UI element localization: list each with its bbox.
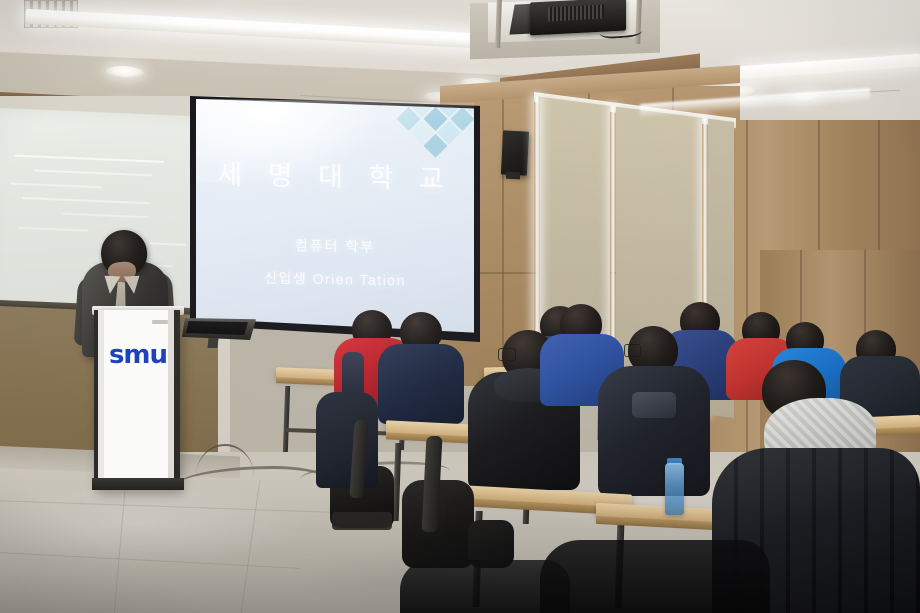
student-jacket bbox=[316, 392, 378, 488]
eyeglasses bbox=[624, 344, 641, 357]
projection-screen: 세 명 대 학 교 컴퓨터 학부 신입생 Orien Tation bbox=[196, 99, 474, 335]
student-jacket bbox=[598, 366, 710, 496]
podium-monitor-screen bbox=[186, 321, 248, 335]
student-jacket bbox=[378, 344, 464, 424]
foreground-coats bbox=[540, 540, 770, 613]
slide-title: 세 명 대 학 교 bbox=[217, 153, 452, 197]
podium-monitor-stand bbox=[207, 338, 218, 348]
slide-content: 세 명 대 학 교 컴퓨터 학부 신입생 Orien Tation bbox=[196, 99, 474, 335]
podium-base bbox=[92, 478, 184, 490]
bag-base bbox=[332, 512, 392, 530]
slide-subtitle-department: 컴퓨터 학부 bbox=[295, 235, 375, 257]
eyeglasses bbox=[498, 348, 516, 361]
foreground-coats bbox=[400, 560, 570, 613]
jacket-shoulder-panel bbox=[632, 392, 676, 418]
slide-subtitle-orientation: 신입생 Orien Tation bbox=[264, 268, 406, 291]
projector-vent-grille bbox=[548, 5, 604, 22]
speaker-bracket bbox=[506, 172, 520, 180]
lectern-podium bbox=[94, 310, 180, 490]
podium-badge bbox=[152, 320, 168, 324]
desk-leg bbox=[283, 386, 290, 452]
lecture-hall-photo: 세 명 대 학 교 컴퓨터 학부 신입생 Orien Tation smu bbox=[0, 0, 920, 613]
water-bottle-on-desk[interactable] bbox=[665, 463, 684, 515]
wall-mounted-speaker bbox=[501, 130, 529, 175]
podium-smu-logo: smu bbox=[108, 340, 168, 370]
